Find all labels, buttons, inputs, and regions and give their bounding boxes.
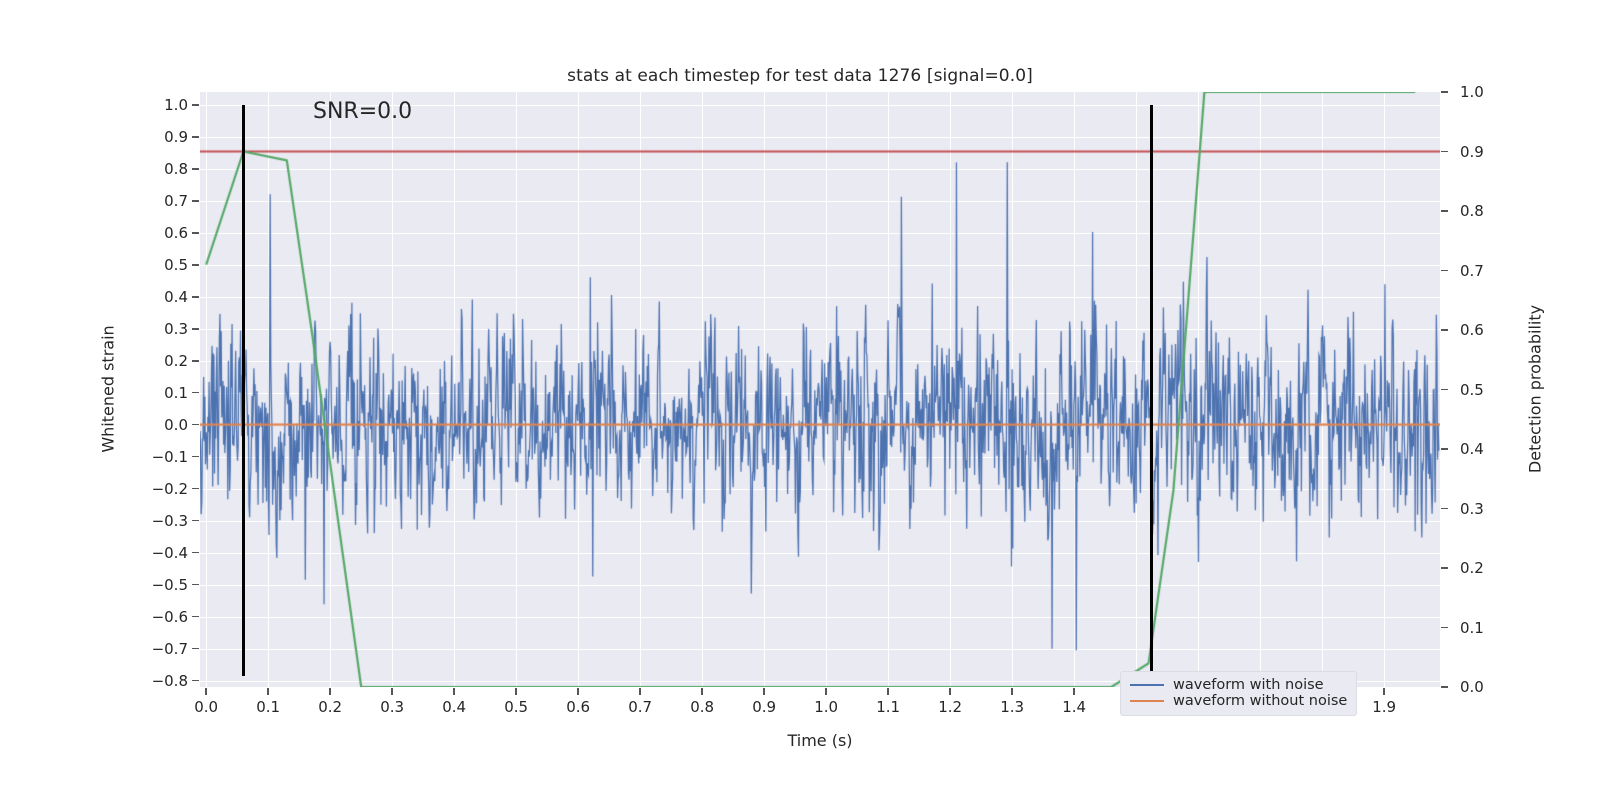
y-tick-label-right: 0.4: [1460, 440, 1530, 458]
y-tick-label-left: 0.0: [118, 416, 188, 434]
y-tick-label-left: 0.8: [118, 160, 188, 178]
x-tick-label: 1.9: [1354, 698, 1414, 716]
legend-item-label: waveform with noise: [1173, 677, 1324, 693]
legend-color-swatch: [1130, 684, 1164, 686]
y-tick-mark-left: [192, 104, 199, 106]
y-tick-label-right: 0.2: [1460, 559, 1530, 577]
y-tick-mark-left: [192, 424, 199, 426]
x-tick-mark: [1011, 688, 1013, 695]
x-tick-mark: [639, 688, 641, 695]
y-tick-label-right: 0.6: [1460, 321, 1530, 339]
y-tick-label-left: 0.3: [118, 320, 188, 338]
chart-legend[interactable]: waveform with noisewaveform without nois…: [1120, 671, 1357, 716]
x-tick-label: 1.1: [858, 698, 918, 716]
y-tick-mark-right: [1441, 627, 1448, 629]
y-tick-mark-left: [192, 264, 199, 266]
y-tick-label-left: 0.1: [118, 384, 188, 402]
y-tick-mark-left: [192, 328, 199, 330]
x-tick-mark: [391, 688, 393, 695]
y-tick-mark-left: [192, 296, 199, 298]
x-tick-label: 1.4: [1044, 698, 1104, 716]
legend-item[interactable]: waveform without noise: [1130, 693, 1347, 709]
y-tick-label-left: −0.5: [118, 576, 188, 594]
y-tick-label-right: 0.5: [1460, 381, 1530, 399]
y-tick-mark-right: [1441, 210, 1448, 212]
x-tick-label: 1.3: [982, 698, 1042, 716]
x-tick-label: 0.8: [672, 698, 732, 716]
y-tick-mark-left: [192, 520, 199, 522]
x-tick-mark: [887, 688, 889, 695]
series-overlay-layer: [200, 92, 1440, 687]
figure-canvas: stats at each timestep for test data 127…: [0, 0, 1600, 800]
plot-area[interactable]: [200, 92, 1440, 687]
y-tick-label-left: −0.1: [118, 448, 188, 466]
y-tick-mark-left: [192, 680, 199, 682]
y-tick-mark-right: [1441, 686, 1448, 688]
y-tick-mark-left: [192, 552, 199, 554]
y-tick-mark-right: [1441, 389, 1448, 391]
y-tick-mark-left: [192, 200, 199, 202]
y-tick-mark-right: [1441, 151, 1448, 153]
x-tick-mark: [763, 688, 765, 695]
snr-annotation: SNR=0.0: [313, 99, 412, 124]
y-tick-label-right: 0.0: [1460, 678, 1530, 696]
x-tick-mark: [701, 688, 703, 695]
y-tick-label-right: 0.8: [1460, 202, 1530, 220]
y-tick-label-left: 0.9: [118, 128, 188, 146]
y-tick-label-left: 0.6: [118, 224, 188, 242]
y-tick-label-left: 1.0: [118, 96, 188, 114]
x-tick-label: 0.7: [610, 698, 670, 716]
y-tick-label-left: −0.3: [118, 512, 188, 530]
y-tick-mark-left: [192, 232, 199, 234]
y-tick-mark-right: [1441, 329, 1448, 331]
x-tick-mark: [949, 688, 951, 695]
y-tick-label-left: 0.4: [118, 288, 188, 306]
y-tick-mark-right: [1441, 270, 1448, 272]
y-tick-label-left: 0.5: [118, 256, 188, 274]
y-tick-label-right: 0.3: [1460, 500, 1530, 518]
y-tick-label-right: 0.1: [1460, 619, 1530, 637]
y-tick-mark-left: [192, 584, 199, 586]
y-tick-label-right: 0.9: [1460, 143, 1530, 161]
x-tick-mark: [1073, 688, 1075, 695]
x-tick-mark: [577, 688, 579, 695]
y-tick-mark-right: [1441, 448, 1448, 450]
y-tick-mark-right: [1441, 567, 1448, 569]
y-tick-mark-left: [192, 456, 199, 458]
vertical-marker-line: [1150, 105, 1153, 676]
legend-item-label: waveform without noise: [1173, 693, 1347, 709]
x-tick-mark: [267, 688, 269, 695]
x-tick-mark: [515, 688, 517, 695]
y-tick-mark-left: [192, 616, 199, 618]
x-tick-mark: [205, 688, 207, 695]
y-tick-label-left: 0.2: [118, 352, 188, 370]
vertical-marker-line: [242, 105, 245, 676]
y-tick-label-right: 1.0: [1460, 83, 1530, 101]
y-tick-label-left: −0.4: [118, 544, 188, 562]
x-tick-label: 0.6: [548, 698, 608, 716]
legend-color-swatch: [1130, 700, 1164, 702]
chart-title: stats at each timestep for test data 127…: [0, 66, 1600, 86]
y-axis-label-right: Detection probability: [1526, 305, 1545, 473]
y-tick-label-left: −0.8: [118, 672, 188, 690]
y-tick-mark-right: [1441, 508, 1448, 510]
x-tick-label: 1.2: [920, 698, 980, 716]
x-tick-label: 0.1: [238, 698, 298, 716]
x-tick-label: 0.2: [300, 698, 360, 716]
y-tick-mark-left: [192, 488, 199, 490]
x-tick-mark: [1383, 688, 1385, 695]
y-axis-label-left: Whitened strain: [99, 325, 118, 452]
y-tick-mark-right: [1441, 91, 1448, 93]
x-tick-label: 1.0: [796, 698, 856, 716]
x-tick-mark: [825, 688, 827, 695]
x-tick-label: 0.4: [424, 698, 484, 716]
x-tick-label: 0.3: [362, 698, 422, 716]
y-tick-label-left: −0.2: [118, 480, 188, 498]
y-tick-label-left: −0.6: [118, 608, 188, 626]
y-tick-label-left: 0.7: [118, 192, 188, 210]
y-tick-mark-left: [192, 168, 199, 170]
y-tick-mark-left: [192, 392, 199, 394]
y-tick-label-left: −0.7: [118, 640, 188, 658]
y-tick-mark-left: [192, 360, 199, 362]
x-tick-mark: [453, 688, 455, 695]
y-tick-label-right: 0.7: [1460, 262, 1530, 280]
legend-item[interactable]: waveform with noise: [1130, 677, 1347, 693]
x-tick-label: 0.5: [486, 698, 546, 716]
x-tick-mark: [329, 688, 331, 695]
x-tick-label: 0.0: [176, 698, 236, 716]
x-tick-label: 0.9: [734, 698, 794, 716]
y-tick-mark-left: [192, 648, 199, 650]
x-axis-label: Time (s): [787, 731, 852, 750]
y-tick-mark-left: [192, 136, 199, 138]
